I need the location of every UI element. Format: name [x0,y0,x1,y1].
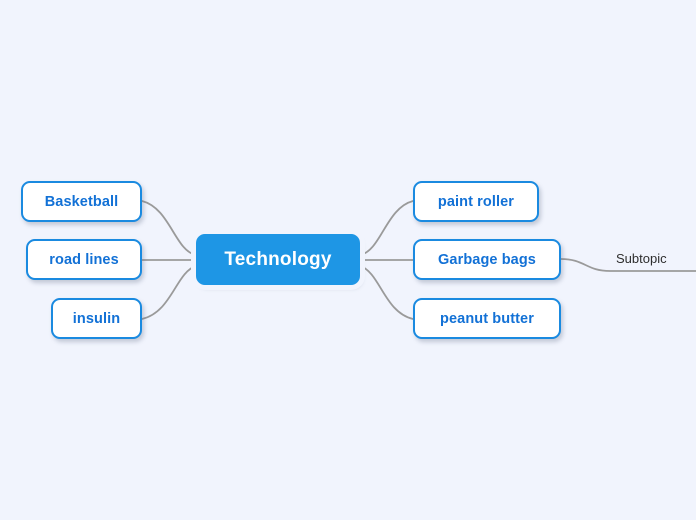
branch-node-garbage-bags[interactable]: Garbage bags [413,239,561,280]
connector-technology-to-basketball [142,201,196,255]
branch-node-label: paint roller [438,194,514,210]
root-node-technology[interactable]: Technology [196,234,360,285]
root-node-label: Technology [224,249,331,271]
branch-node-basketball[interactable]: Basketball [21,181,142,222]
branch-node-label: Basketball [45,194,119,210]
branch-node-peanut-butter[interactable]: peanut butter [413,298,561,339]
connector-technology-to-insulin [142,266,196,319]
connector-technology-to-paint-roller [360,201,413,255]
leaf-node-subtopic[interactable]: Subtopic [616,251,667,266]
branch-node-label: peanut butter [440,311,534,327]
connector-technology-to-peanut-butter [360,266,413,319]
branch-node-paint-roller[interactable]: paint roller [413,181,539,222]
branch-node-label: insulin [73,311,120,327]
mindmap-canvas: Technology Basketballroad linesinsulin p… [0,0,696,520]
branch-node-label: road lines [49,252,119,268]
branch-node-road-lines[interactable]: road lines [26,239,142,280]
branch-node-label: Garbage bags [438,252,536,268]
branch-node-insulin[interactable]: insulin [51,298,142,339]
